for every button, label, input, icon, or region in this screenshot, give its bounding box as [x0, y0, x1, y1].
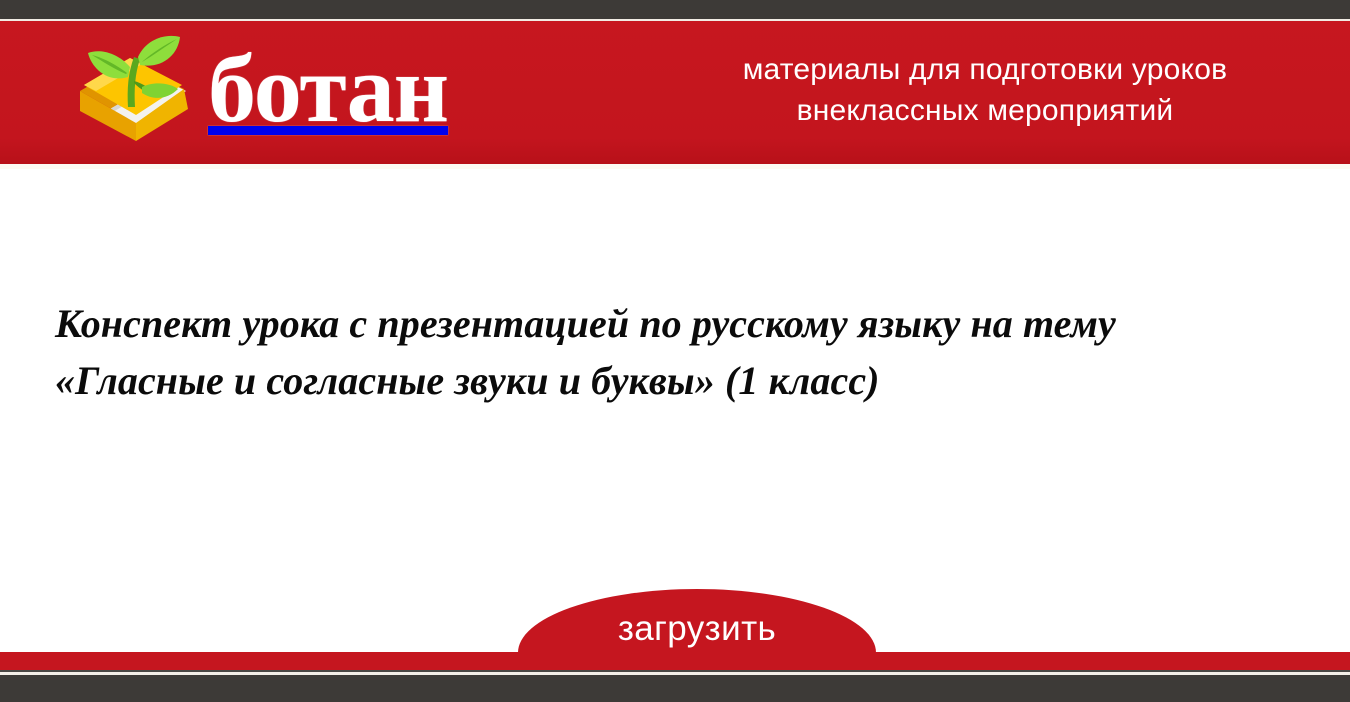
site-logo-link[interactable]: ботан: [66, 27, 448, 145]
site-tagline: материалы для подготовки уроков внекласс…: [640, 49, 1330, 132]
site-footer: [0, 675, 1350, 702]
top-dark-bar: [0, 0, 1350, 19]
page-title: Конспект урока с презентацией по русском…: [55, 296, 1230, 410]
brand-wordmark: ботан: [208, 41, 448, 137]
page-root: ботан материалы для подготовки уроков вн…: [0, 0, 1350, 702]
site-header: ботан материалы для подготовки уроков вн…: [0, 21, 1350, 164]
book-sprout-icon: [66, 27, 194, 145]
tagline-line-1: материалы для подготовки уроков: [640, 49, 1330, 90]
tagline-line-2: внеклассных мероприятий: [640, 90, 1330, 131]
main-content: Конспект урока с презентацией по русском…: [0, 169, 1350, 652]
